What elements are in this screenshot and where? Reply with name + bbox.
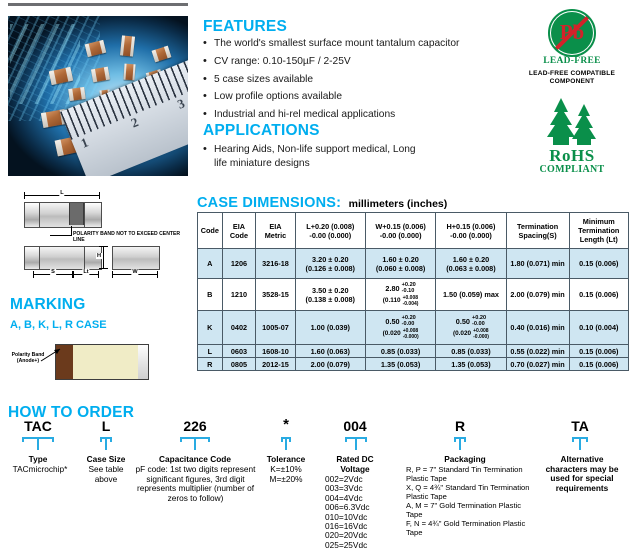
rohs-compliant-label: COMPLIANT: [517, 164, 627, 175]
feature-item: 5 case sizes available: [203, 73, 503, 87]
order-code-capacitance: 226: [165, 418, 225, 434]
cell-height: 0.85 (0.033): [436, 345, 506, 358]
ruler-number: 1: [79, 134, 91, 151]
case-dimensions-title: CASE DIMENSIONS:: [197, 195, 341, 211]
leader-line: [50, 235, 72, 236]
cell-eia-metric: 2012-15: [256, 358, 295, 371]
dimension-drawings: L POLARITY BAND NOT TO EXCEED CENTER LIN…: [10, 196, 188, 288]
cell-eia-code: 0805: [222, 358, 256, 371]
chip-capacitor: [120, 35, 135, 56]
order-code-packaging: R: [440, 418, 480, 434]
datasheet-page: 2 3 1 FEATURES The world's smallest surf…: [0, 0, 635, 557]
cell-length: 2.00 (0.079): [295, 358, 365, 371]
order-heading-voltage: Rated DCVoltage: [320, 455, 390, 474]
applications-title: APPLICATIONS: [203, 122, 320, 140]
cell-lt: 0.15 (0.006): [569, 279, 628, 311]
cell-spacing: 1.80 (0.071) min: [506, 249, 569, 279]
packaging-option: A, M = 7" Gold Termination Plastic Tape: [406, 501, 531, 519]
table-row: A 1206 3216-18 3.20 ± 0.20(0.126 ± 0.008…: [198, 249, 629, 279]
chip-body-marking: [73, 345, 138, 379]
col-eia-metric: EIAMetric: [256, 213, 295, 249]
cell-width: 0.85 (0.033): [365, 345, 435, 358]
cell-code: R: [198, 358, 223, 371]
cell-spacing: 0.40 (0.016) min: [506, 311, 569, 345]
order-body-alternative: Alternative characters may be used for s…: [540, 455, 624, 493]
width-label: W: [131, 269, 138, 275]
cell-lt: 0.10 (0.004): [569, 311, 628, 345]
table-row: K 0402 1005-07 1.00 (0.039) 0.50 +0.20-0…: [198, 311, 629, 345]
marking-section: MARKING A, B, K, L, R CASE: [10, 296, 190, 331]
cell-lt: 0.15 (0.006): [569, 358, 628, 371]
cell-code: B: [198, 279, 223, 311]
height-label: H: [96, 253, 102, 259]
packaging-option: X, Q = 4¾" Standard Tin Termination Plas…: [406, 483, 531, 501]
col-termination-spacing: TerminationSpacing(S): [506, 213, 569, 249]
cell-spacing: 0.70 (0.027) min: [506, 358, 569, 371]
cell-height: 0.50 +0.20-0.00 (0.020 +0.008-0.000): [436, 311, 506, 345]
polarity-note: POLARITY BAND NOT TO EXCEED CENTER LINE: [73, 231, 183, 243]
ruler-number: 2: [129, 114, 141, 131]
order-heading-packaging: Packaging: [420, 455, 510, 465]
cell-spacing: 0.55 (0.022) min: [506, 345, 569, 358]
case-dimensions-units: millimeters (inches): [349, 198, 448, 210]
lead-free-logo: Pb LEAD-FREE LEAD-FREE COMPATIBLE COMPON…: [517, 12, 627, 86]
length-dimension: L: [24, 192, 100, 199]
cell-width: 0.50 +0.20-0.00 (0.020 +0.008-0.000): [365, 311, 435, 345]
order-code-tolerance: *: [266, 416, 306, 433]
polarity-leader-arrow-icon: [40, 348, 62, 362]
cell-lt: 0.15 (0.006): [569, 345, 628, 358]
cell-eia-metric: 1005-07: [256, 311, 295, 345]
cell-code: L: [198, 345, 223, 358]
feature-item: The world's smallest surface mount tanta…: [203, 37, 503, 51]
order-body-case-size: See table above: [80, 465, 132, 484]
packaging-options-list: R, P = 7" Standard Tin Termination Plast…: [406, 465, 531, 537]
cell-height: 1.60 ± 0.20(0.063 ± 0.008): [436, 249, 506, 279]
spacing-label: S: [50, 269, 56, 275]
cell-width: 2.80 +0.20-0.10 (0.110 +0.008-0.004): [365, 279, 435, 311]
col-min-term-length: MinimumTerminationLength (Lt): [569, 213, 628, 249]
chip-capacitor: [68, 87, 86, 101]
table-row: L 0603 1608-10 1.60 (0.063) 0.85 (0.033)…: [198, 345, 629, 358]
order-code-voltage: 004: [330, 418, 380, 434]
leader-line: [71, 226, 72, 235]
lt-label: Lt: [82, 269, 89, 275]
cell-length: 3.20 ± 0.20(0.126 ± 0.008): [295, 249, 365, 279]
voltage-options-list: 002=2Vdc 003=3Vdc 004=4Vdc 006=6.3Vdc 01…: [325, 475, 387, 550]
spacing-dimension: S: [33, 271, 73, 278]
packaging-option: F, N = 4¾" Gold Termination Plastic Tape: [406, 519, 531, 537]
voltage-option: 025=25Vdc: [325, 541, 387, 550]
table-header-row: Code EIACode EIAMetric L+0.20 (0.008)-0.…: [198, 213, 629, 249]
termination-right: [84, 202, 102, 228]
pb-symbol-icon: Pb: [551, 12, 593, 54]
pb-ring: [548, 9, 596, 57]
width-dimension: W: [112, 271, 158, 278]
features-title: FEATURES: [203, 18, 287, 36]
height-tick: [99, 246, 108, 247]
cell-width: 1.60 ± 0.20(0.060 ± 0.008): [365, 249, 435, 279]
cell-eia-metric: 3528-15: [256, 279, 295, 311]
lead-free-label: LEAD-FREE: [517, 56, 627, 66]
cell-eia-code: 1206: [222, 249, 256, 279]
table-row: B 1210 3528-15 3.50 ± 0.20(0.138 ± 0.008…: [198, 279, 629, 311]
trees-icon: [517, 95, 627, 147]
order-code-case-size: L: [86, 418, 126, 434]
col-height: H+0.15 (0.006)-0.00 (0.000): [436, 213, 506, 249]
top-divider: [8, 3, 188, 6]
height-tick: [99, 268, 108, 269]
order-body-type: TACmicrochip*: [0, 465, 80, 475]
lt-dimension: Lt: [73, 271, 99, 278]
cell-code: K: [198, 311, 223, 345]
cell-eia-code: 0402: [222, 311, 256, 345]
col-eia-code: EIACode: [222, 213, 256, 249]
cell-length: 1.00 (0.039): [295, 311, 365, 345]
lead-free-component-label: LEAD-FREE COMPATIBLE COMPONENT: [517, 70, 627, 86]
cell-length: 3.50 ± 0.20(0.138 ± 0.008): [295, 279, 365, 311]
order-body-tolerance: K=±10%M=±20%: [258, 465, 314, 484]
pine-trees-svg: [517, 95, 627, 147]
case-dimensions-header: CASE DIMENSIONS: millimeters (inches): [197, 194, 447, 212]
termination-marking: [138, 345, 148, 379]
marking-title: MARKING: [10, 296, 190, 314]
height-dimension-line: [103, 246, 104, 268]
chip-capacitor: [123, 64, 135, 81]
cell-eia-code: 1210: [222, 279, 256, 311]
product-photo: 2 3 1: [8, 16, 188, 176]
col-width: W+0.15 (0.006)-0.00 (0.000): [365, 213, 435, 249]
marking-cases: A, B, K, L, R CASE: [10, 319, 190, 331]
chip-body-end: [112, 246, 160, 270]
chip-body-side: [39, 246, 87, 270]
cell-width: 1.35 (0.053): [365, 358, 435, 371]
order-code-alternative: TA: [555, 418, 605, 434]
packaging-option: R, P = 7" Standard Tin Termination Plast…: [406, 465, 531, 483]
application-item: Hearing Aids, Non-life support medical, …: [203, 143, 429, 172]
cell-lt: 0.15 (0.006): [569, 249, 628, 279]
cell-eia-metric: 3216-18: [256, 249, 295, 279]
case-dimensions-table: Code EIACode EIAMetric L+0.20 (0.008)-0.…: [197, 212, 629, 371]
cell-height: 1.35 (0.053): [436, 358, 506, 371]
table-row: R 0805 2012-15 2.00 (0.079) 1.35 (0.053)…: [198, 358, 629, 371]
cell-length: 1.60 (0.063): [295, 345, 365, 358]
feature-item: Low profile options available: [203, 90, 503, 104]
length-label: L: [59, 190, 64, 196]
order-code-type: TAC: [8, 418, 68, 434]
polarity-band: [69, 203, 84, 225]
col-length: L+0.20 (0.008)-0.00 (0.000): [295, 213, 365, 249]
rohs-logo: RoHS COMPLIANT: [517, 95, 627, 175]
features-list: The world's smallest surface mount tanta…: [203, 37, 503, 126]
feature-item: Industrial and hi-rel medical applicatio…: [203, 108, 503, 122]
cell-spacing: 2.00 (0.079) min: [506, 279, 569, 311]
chip-capacitor: [85, 40, 107, 57]
feature-item: CV range: 0.10-150µF / 2-25V: [203, 55, 503, 69]
chip-capacitor: [152, 46, 172, 63]
cell-code: A: [198, 249, 223, 279]
ruler-number: 3: [175, 95, 187, 112]
chip-capacitor: [91, 67, 110, 83]
marking-chip-illustration: [55, 344, 149, 380]
rohs-label: RoHS: [517, 147, 627, 164]
cell-eia-code: 0603: [222, 345, 256, 358]
cell-height: 1.50 (0.059) max: [436, 279, 506, 311]
cell-eia-metric: 1608-10: [256, 345, 295, 358]
how-to-order-diagram: TAC Type TACmicrochip* L Case Size See t…: [0, 418, 635, 557]
order-body-capacitance: pF code: 1st two digits represent signif…: [133, 465, 258, 503]
applications-list: Hearing Aids, Non-life support medical, …: [203, 143, 503, 175]
col-code: Code: [198, 213, 223, 249]
